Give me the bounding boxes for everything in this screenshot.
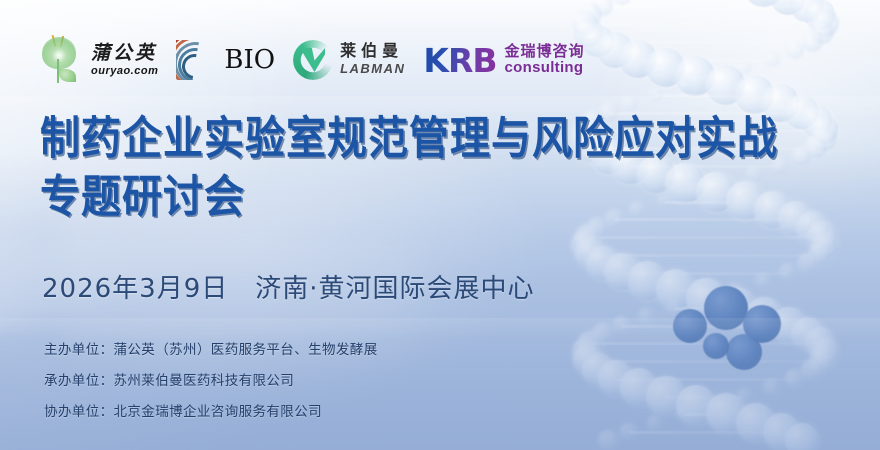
logo-bio[interactable]: BIO: [176, 32, 275, 88]
organizer-co-host: 协办单位：北京金瑞博企业咨询服务有限公司: [44, 400, 378, 420]
light-band-lower: [0, 318, 880, 340]
logo-labman[interactable]: 莱伯曼 LABMAN: [293, 32, 405, 88]
logo-dandelion-cn: 蒲公英: [91, 44, 158, 63]
sponsor-logo-strip: 蒲公英 ouryao.com BIO 莱伯曼 LABMAN KRB 金瑞博咨询 …: [40, 32, 585, 88]
headline-line-1: 制药企业实验室规范管理与风险应对实战: [40, 110, 850, 168]
logo-labman-cn: 莱伯曼: [340, 44, 405, 61]
bio-swoosh-icon: [176, 40, 222, 80]
conference-poster: 蒲公英 ouryao.com BIO 莱伯曼 LABMAN KRB 金瑞博咨询 …: [0, 0, 880, 450]
logo-krb[interactable]: KRB 金瑞博咨询 consulting: [423, 32, 584, 88]
logo-bio-text: BIO: [224, 45, 275, 75]
logo-dandelion-en: ouryao.com: [91, 66, 158, 77]
logo-dandelion[interactable]: 蒲公英 ouryao.com: [40, 32, 158, 88]
krb-wordmark-icon: KRB: [423, 41, 496, 80]
headline-line-2: 专题研讨会: [40, 168, 850, 226]
dandelion-icon: [40, 35, 84, 85]
page-title: 制药企业实验室规范管理与风险应对实战 专题研讨会: [40, 110, 850, 226]
organizer-undertaker: 承办单位：苏州莱伯曼医药科技有限公司: [44, 369, 378, 389]
organizer-host: 主办单位：蒲公英（苏州）医药服务平台、生物发酵展: [44, 338, 378, 358]
logo-krb-en: consulting: [505, 60, 585, 76]
logo-krb-cn: 金瑞博咨询: [505, 44, 585, 60]
organizer-list: 主办单位：蒲公英（苏州）医药服务平台、生物发酵展 承办单位：苏州莱伯曼医药科技有…: [44, 338, 378, 420]
date-venue-text: 2026年3月9日 济南·黄河国际会展中心: [42, 268, 535, 305]
logo-labman-en: LABMAN: [340, 62, 405, 76]
labman-leaf-icon: [293, 40, 333, 80]
